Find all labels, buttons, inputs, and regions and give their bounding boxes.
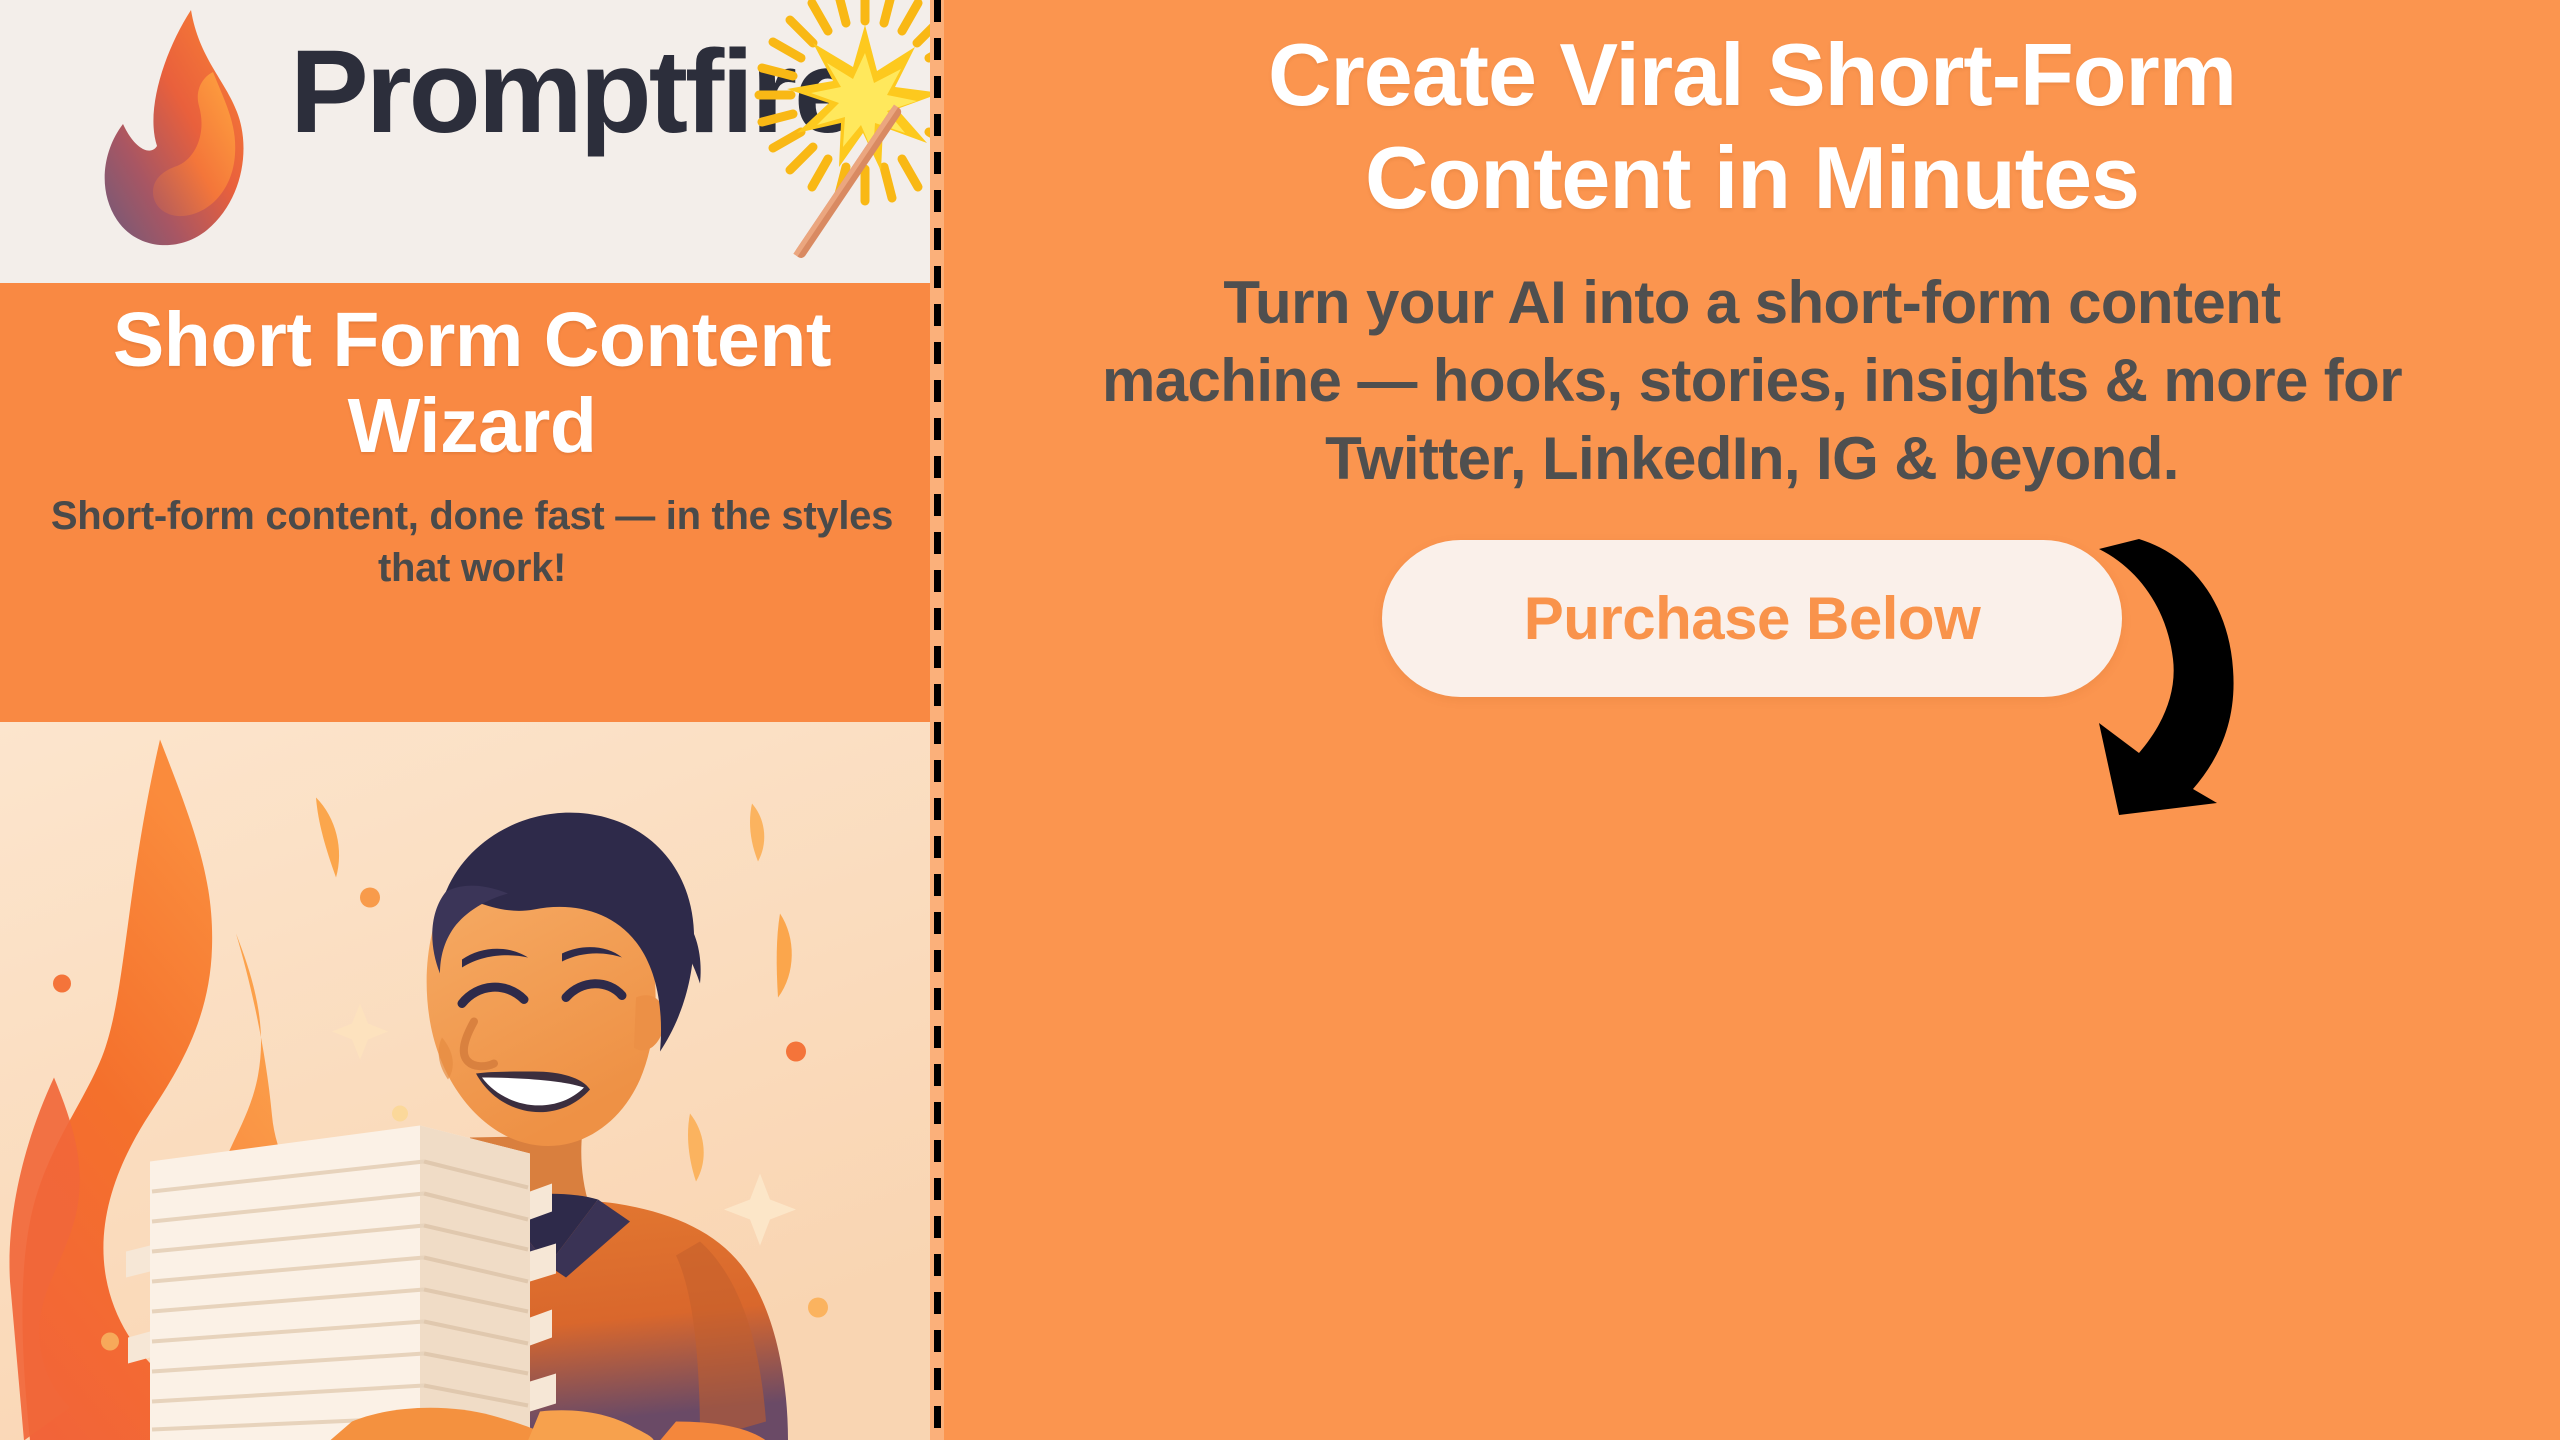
brand-header: Promptfire (0, 0, 944, 283)
sparkler-icon (735, 0, 944, 283)
flame-icon (95, 6, 270, 256)
product-subtitle: Short-form content, done fast — in the s… (32, 491, 912, 593)
page-description: Turn your AI into a short-form content m… (1102, 264, 2402, 498)
product-title-band: Short Form Content Wizard Short-form con… (0, 283, 944, 722)
logo-row: Promptfire (0, 0, 944, 283)
man-holding-paper-stack-with-flames-illustration (0, 722, 944, 1440)
product-title: Short Form Content Wizard (0, 297, 944, 469)
left-product-card: Promptfire (0, 0, 944, 1440)
right-marketing-panel: Create Viral Short-Form Content in Minut… (944, 0, 2560, 1440)
purchase-below-button[interactable]: Purchase Below (1382, 540, 2122, 697)
dashed-divider (930, 0, 944, 1440)
cta-container: Purchase Below (1382, 540, 2122, 697)
promo-banner: Promptfire (0, 0, 2560, 1440)
page-title: Create Viral Short-Form Content in Minut… (1112, 24, 2392, 230)
